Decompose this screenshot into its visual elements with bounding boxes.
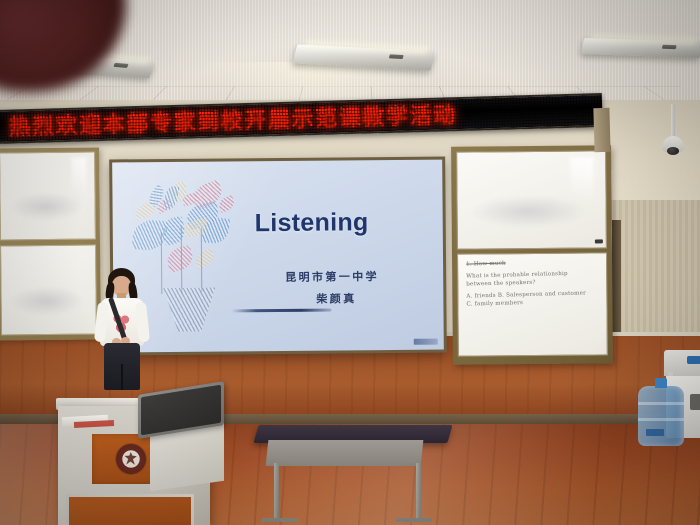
whiteboard-right: 1. How much What is the probable relatio…	[451, 145, 613, 364]
lectern-podium	[58, 388, 238, 525]
projected-slide: Listening 昆明市第一中学 柴颜真	[112, 160, 444, 353]
demonstration-table	[256, 425, 450, 525]
school-crest-icon	[116, 444, 146, 474]
camera-lens	[667, 147, 679, 155]
slide-organization: 昆明市第一中学	[285, 268, 379, 285]
camera-mount-pole	[671, 104, 675, 140]
security-camera-icon	[660, 104, 686, 164]
classroom-photo: 热烈欢迎本部专家到校开展示范课教学活动 1. How much What is …	[0, 0, 700, 525]
whiteboard-line-1: 1. How much	[466, 257, 601, 269]
table-foot-left	[262, 518, 298, 522]
whiteboard-left-upper-panel	[0, 152, 96, 241]
water-bottle	[638, 386, 684, 446]
presenting-teacher	[92, 268, 152, 390]
whiteboard-right-upper-panel	[456, 150, 607, 249]
podium-lower-panel	[66, 494, 194, 525]
slide-title: Listening	[255, 208, 369, 238]
water-dispenser	[660, 350, 700, 454]
whiteboard-line-3: between the speakers?	[466, 277, 601, 289]
slide-watermark	[414, 339, 438, 345]
table-leg-left	[274, 463, 279, 521]
whiteboard-smudge	[8, 191, 83, 221]
table-leg-right	[416, 463, 421, 521]
whiteboard-left	[0, 147, 101, 340]
whiteboard-smudge	[9, 285, 84, 316]
red-folder	[74, 420, 114, 428]
whiteboard-left-lower-panel	[0, 244, 97, 335]
projection-screen-frame: Listening 昆明市第一中学 柴颜真	[109, 157, 447, 356]
whiteboard-marker	[595, 239, 603, 243]
whiteboard-line-5: C. family members	[466, 297, 601, 309]
whiteboard-right-lower-panel: 1. How much What is the probable relatio…	[457, 252, 608, 356]
teacher-leg-gap	[121, 364, 123, 390]
sketched-pot	[163, 288, 215, 332]
slide-underline	[231, 309, 331, 313]
led-banner-end-cap	[593, 108, 610, 152]
table-foot-right	[396, 518, 432, 522]
whiteboard-smudge	[469, 195, 588, 229]
slide-presenter-name: 柴颜真	[316, 290, 356, 306]
table-apron	[266, 440, 424, 466]
